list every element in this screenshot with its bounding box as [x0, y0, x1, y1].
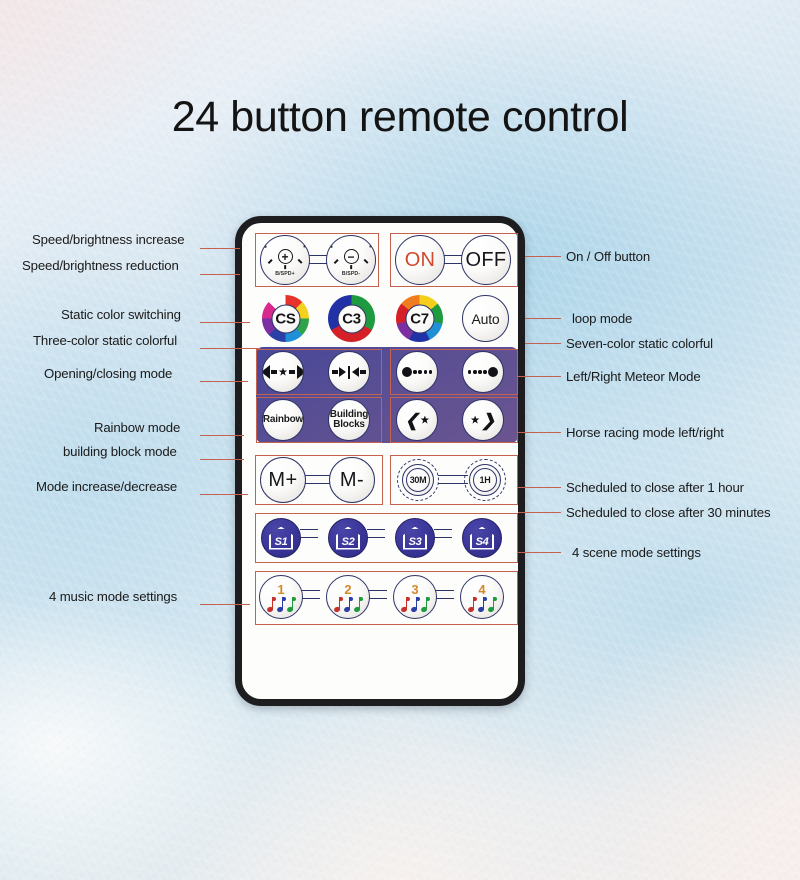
leader-line-static-color [200, 322, 250, 323]
color-cs-button[interactable]: CS [262, 295, 309, 342]
music-mode-2-button[interactable]: 2 [326, 575, 370, 619]
leader-line-seven-color [525, 343, 561, 344]
scene-s1-label: S1 [269, 534, 293, 550]
annotation-seven-color-static-colorful: Seven-color static colorful [566, 336, 713, 351]
annotation-scheduled-close-30-minutes: Scheduled to close after 30 minutes [566, 505, 770, 520]
annotation-three-color-static-colorful: Three-color static colorful [33, 333, 177, 348]
home-icon: S3 [403, 527, 427, 550]
timer-1-hour-button[interactable]: 1H [464, 459, 506, 501]
closing-mode-button[interactable] [328, 351, 370, 393]
brightness-increase-button[interactable]: + B/SPD+ [260, 235, 310, 285]
home-icon: S4 [470, 527, 494, 550]
meteor-right-button[interactable] [462, 351, 504, 393]
chevron-right-glyph: ❯ [481, 412, 495, 429]
music-mode-1-label: 1 [277, 583, 284, 596]
leader-line-close-1-hour [518, 487, 561, 488]
music-note-icon [401, 597, 430, 612]
timer-30-minutes-label: 30M [406, 468, 430, 492]
scene-s3-button[interactable]: S3 [395, 518, 435, 558]
building-blocks-mode-button[interactable]: Building Blocks [328, 399, 370, 441]
music-mode-2-label: 2 [344, 583, 351, 596]
color-c3-label: C3 [337, 304, 366, 333]
opening-mode-button[interactable] [262, 351, 304, 393]
meteor-left-icon [402, 367, 432, 377]
mode-increase-label: M+ [268, 470, 297, 490]
brightness-decrease-button[interactable]: − B/SPD- [326, 235, 376, 285]
annotation-4-scene-mode-settings: 4 scene mode settings [572, 545, 701, 560]
brightness-plus-sign: + [278, 249, 293, 264]
power-off-button[interactable]: OFF [461, 235, 511, 285]
music-mode-4-button[interactable]: 4 [460, 575, 504, 619]
annotation-on-off-button: On / Off button [566, 249, 650, 264]
rainbow-mode-button[interactable]: Rainbow [262, 399, 304, 441]
leader-line-close-30-min [518, 512, 561, 513]
horse-racing-right-button[interactable]: ❯ [462, 399, 504, 441]
rainbow-mode-label: Rainbow [263, 415, 303, 425]
color-c7-button[interactable]: C7 [396, 295, 443, 342]
annotation-speed-brightness-increase: Speed/brightness increase [32, 232, 184, 247]
page-title: 24 button remote control [0, 93, 800, 142]
annotation-horse-racing-mode: Horse racing mode left/right [566, 425, 724, 440]
mode-decrease-button[interactable]: M- [329, 457, 375, 503]
power-off-label: OFF [466, 250, 507, 270]
power-on-label: ON [405, 250, 436, 270]
brightness-increase-label: B/SPD+ [275, 271, 294, 277]
brightness-decrease-label: B/SPD- [342, 271, 360, 277]
scene-s1-button[interactable]: S1 [261, 518, 301, 558]
leader-line-loop-mode [525, 318, 561, 319]
leader-line-meteor [518, 376, 561, 377]
color-cs-label: CS [271, 304, 300, 333]
color-c3-button[interactable]: C3 [328, 295, 375, 342]
auto-loop-label: Auto [472, 312, 500, 326]
chevron-right-star-icon: ❯ [471, 412, 496, 429]
connector-scene-3 [434, 529, 452, 538]
music-note-icon [334, 597, 363, 612]
leader-line-scene-modes [518, 552, 561, 553]
music-mode-3-label: 3 [411, 583, 418, 596]
brightness-minus-sign: − [344, 249, 359, 264]
leader-line-three-color [200, 348, 260, 349]
timer-1-hour-label: 1H [473, 468, 497, 492]
keypad: + B/SPD+ − B/SPD- ON OFF [242, 223, 518, 699]
leader-line-building-block [200, 459, 244, 460]
leader-line-opening-closing [200, 381, 248, 382]
leader-line-mode-step [200, 494, 248, 495]
meteor-left-button[interactable] [396, 351, 438, 393]
timer-30-minutes-button[interactable]: 30M [397, 459, 439, 501]
sun-minus-icon: − [338, 244, 364, 270]
annotation-scheduled-close-1-hour: Scheduled to close after 1 hour [566, 480, 744, 495]
remote-control-body: + B/SPD+ − B/SPD- ON OFF [235, 216, 525, 706]
music-note-icon [267, 597, 296, 612]
annotation-loop-mode: loop mode [572, 311, 632, 326]
leader-line-on-off [525, 256, 561, 257]
chevron-left-star-icon: ❮ [405, 412, 430, 429]
mode-increase-button[interactable]: M+ [260, 457, 306, 503]
annotation-rainbow-mode: Rainbow mode [94, 420, 180, 435]
annotation-building-block-mode: building block mode [63, 444, 177, 459]
connector-scene-1 [300, 529, 318, 538]
building-blocks-line2: Blocks [333, 420, 365, 430]
scene-s2-button[interactable]: S2 [328, 518, 368, 558]
leader-line-speed-reduction [200, 274, 240, 275]
power-on-button[interactable]: ON [395, 235, 445, 285]
annotation-mode-increase-decrease: Mode increase/decrease [36, 479, 177, 494]
arrows-outward-icon [262, 365, 304, 379]
horse-racing-left-button[interactable]: ❮ [396, 399, 438, 441]
connector-scene-2 [367, 529, 385, 538]
connector-mode-step [303, 475, 332, 484]
chevron-left-glyph: ❮ [405, 412, 419, 429]
auto-loop-button[interactable]: Auto [462, 295, 509, 342]
scene-s2-label: S2 [336, 534, 360, 550]
home-icon: S2 [336, 527, 360, 550]
mode-decrease-label: M- [340, 470, 364, 490]
connector-music-3 [435, 590, 454, 599]
scene-s3-label: S3 [403, 534, 427, 550]
annotation-speed-brightness-reduction: Speed/brightness reduction [22, 258, 179, 273]
scene-s4-button[interactable]: S4 [462, 518, 502, 558]
leader-line-horse-racing [518, 432, 561, 433]
connector-music-1 [301, 590, 320, 599]
music-mode-1-button[interactable]: 1 [259, 575, 303, 619]
annotation-4-music-mode-settings: 4 music mode settings [49, 589, 177, 604]
annotation-opening-closing-mode: Opening/closing mode [44, 366, 172, 381]
music-mode-3-button[interactable]: 3 [393, 575, 437, 619]
sun-plus-icon: + [272, 244, 298, 270]
meteor-right-icon [468, 367, 498, 377]
annotation-static-color-switching: Static color switching [61, 307, 181, 322]
music-note-icon [468, 597, 497, 612]
home-icon: S1 [269, 527, 293, 550]
arrows-inward-icon [332, 366, 366, 379]
annotation-left-right-meteor-mode: Left/Right Meteor Mode [566, 369, 701, 384]
leader-line-music-modes [200, 604, 250, 605]
scene-s4-label: S4 [470, 534, 494, 550]
leader-line-speed-increase [200, 248, 240, 249]
connector-music-2 [368, 590, 387, 599]
color-c7-label: C7 [405, 304, 434, 333]
music-mode-4-label: 4 [478, 583, 485, 596]
leader-line-rainbow [200, 435, 244, 436]
